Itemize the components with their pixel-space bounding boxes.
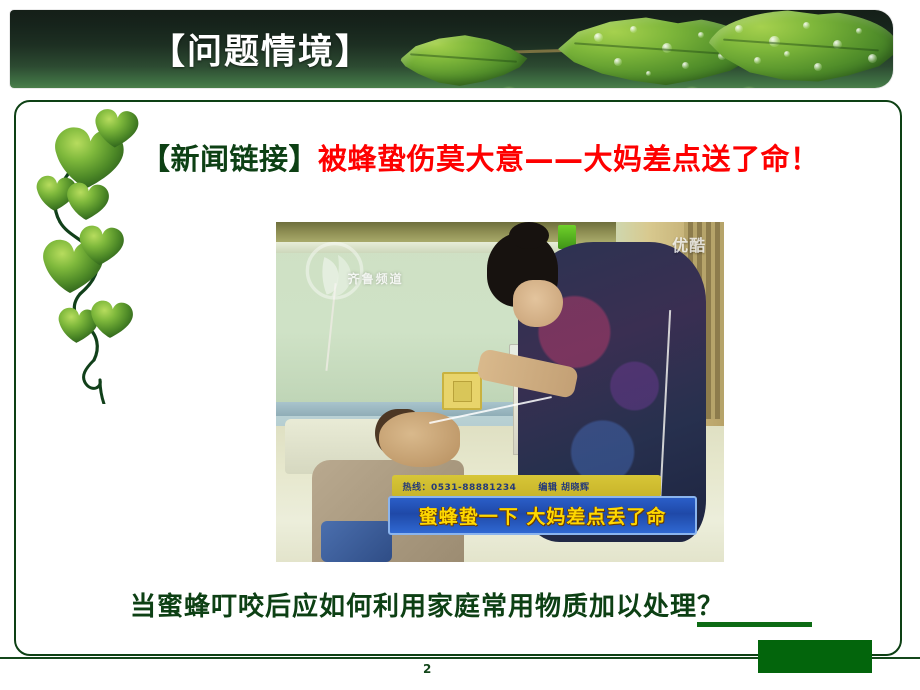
banner-leaf-decoration xyxy=(390,10,893,88)
banner-leaf-1 xyxy=(400,32,530,87)
news-headline-text: 被蜂蛰伤莫大意——大妈差点送了命！ xyxy=(318,142,820,176)
broadcast-hotline-bar: 热线：0531-88881234 编辑 胡晓辉 xyxy=(392,475,661,497)
question-underline xyxy=(697,622,812,627)
discussion-question: 当蜜蜂叮咬后应如何利用家庭常用物质加以处理？ xyxy=(130,586,724,623)
youku-watermark: 优酷 xyxy=(672,232,706,256)
page-title: 【问题情境】 xyxy=(150,24,372,75)
editor-text: 编辑 胡晓辉 xyxy=(538,480,589,493)
patient-sleeve xyxy=(321,521,393,562)
wall-outlet xyxy=(442,372,482,410)
footer-accent-box xyxy=(758,640,872,673)
news-headline: 【新闻链接】被蜂蛰伤莫大意——大妈差点送了命！ xyxy=(141,137,896,181)
broadcast-caption-bar: 蜜蜂蛰一下 大妈差点丢了命 xyxy=(388,496,697,535)
news-video-screenshot: 齐鲁频道 优酷 热线：0531-88881234 编辑 胡晓辉 蜜蜂蛰一下 大妈… xyxy=(276,222,724,562)
patient-head xyxy=(379,412,460,466)
hotline-text: 热线：0531-88881234 xyxy=(402,480,516,493)
caption-text: 蜜蜂蛰一下 大妈差点丢了命 xyxy=(419,502,667,529)
news-link-tag: 【新闻链接】 xyxy=(141,142,318,176)
banner-leaf-3 xyxy=(708,10,893,86)
slide-title-banner: 【问题情境】 xyxy=(10,10,893,88)
channel-logo-label: 齐鲁频道 xyxy=(348,270,404,287)
page-number: 2 xyxy=(423,662,431,676)
